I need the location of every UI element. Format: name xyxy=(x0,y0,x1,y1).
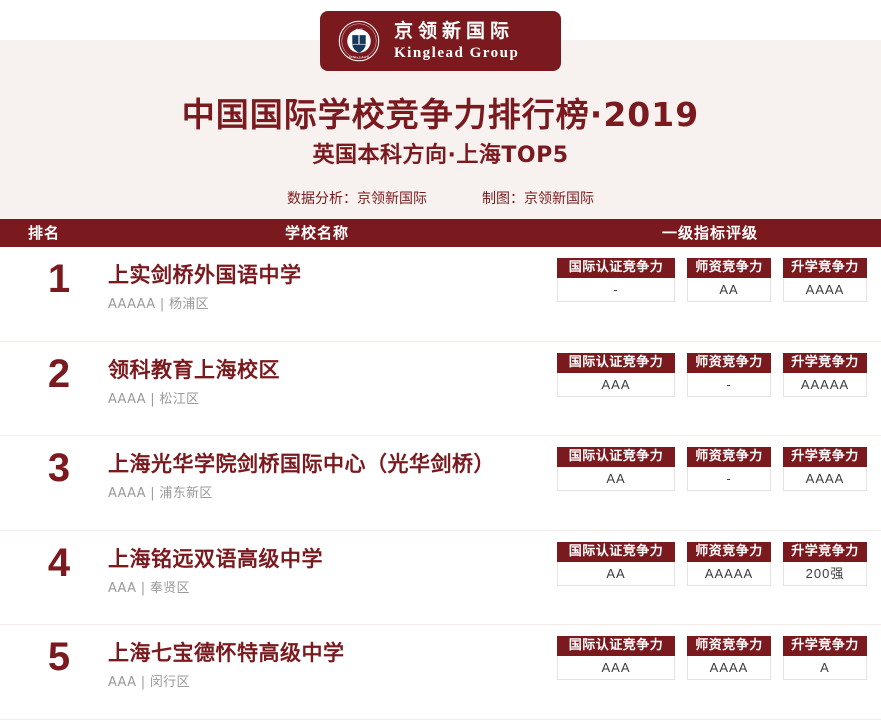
svg-text:KING LEAD: KING LEAD xyxy=(349,55,370,59)
credit-line: 数据分析：京领新国际 制图：京领新国际 xyxy=(0,188,881,208)
rating-badge-group: 国际认证竞争力 AAA 师资竞争力 AAAA 升学竞争力 A xyxy=(557,636,867,680)
page-subtitle: 英国本科方向·上海TOP5 xyxy=(0,137,881,169)
rating-badge-faculty: 师资竞争力 - xyxy=(687,447,771,491)
table-row[interactable]: 3 上海光华学院剑桥国际中心（光华剑桥） AAAA | 浦东新区 国际认证竞争力… xyxy=(0,436,881,531)
brand-name-cn: 京领新国际 xyxy=(394,22,519,41)
row-school-block: 上海光华学院剑桥国际中心（光华剑桥） AAAA | 浦东新区 xyxy=(108,451,495,501)
rating-label-admission: 升学竞争力 xyxy=(783,258,867,278)
rating-badge-certification: 国际认证竞争力 - xyxy=(557,258,675,302)
brand-name-en: Kinglead Group xyxy=(394,46,519,61)
rating-badge-certification: 国际认证竞争力 AAA xyxy=(557,353,675,397)
rating-value-admission: AAAA xyxy=(783,467,867,491)
rating-label-admission: 升学竞争力 xyxy=(783,636,867,656)
rating-label-certification: 国际认证竞争力 xyxy=(557,258,675,278)
rating-badge-admission: 升学竞争力 AAAA xyxy=(783,447,867,491)
banner-area: 京领 KING LEAD 京领新国际 Kinglead Group 中国国际学校… xyxy=(0,0,881,219)
school-name: 上海七宝德怀特高级中学 xyxy=(108,640,345,666)
rating-badge-group: 国际认证竞争力 AA 师资竞争力 - 升学竞争力 AAAA xyxy=(557,447,867,491)
rating-label-admission: 升学竞争力 xyxy=(783,542,867,562)
rating-badge-faculty: 师资竞争力 AAAA xyxy=(687,636,771,680)
rating-value-faculty: AAAAA xyxy=(687,562,771,586)
credit-chart: 制图：京领新国际 xyxy=(482,191,594,207)
column-header-rating: 一级指标评级 xyxy=(662,219,758,247)
rating-value-certification: AAA xyxy=(557,656,675,680)
table-row[interactable]: 5 上海七宝德怀特高级中学 AAA | 闵行区 国际认证竞争力 AAA 师资竞争… xyxy=(0,625,881,720)
school-name: 领科教育上海校区 xyxy=(108,357,280,383)
school-meta: AAA | 奉贤区 xyxy=(108,577,323,596)
page-title: 中国国际学校竞争力排行榜·2019 xyxy=(0,88,881,136)
rating-label-faculty: 师资竞争力 xyxy=(687,636,771,656)
rating-label-admission: 升学竞争力 xyxy=(783,447,867,467)
rating-badge-certification: 国际认证竞争力 AA xyxy=(557,447,675,491)
school-meta: AAAA | 松江区 xyxy=(108,388,280,407)
school-meta: AAA | 闵行区 xyxy=(108,671,345,690)
row-school-block: 上海铭远双语高级中学 AAA | 奉贤区 xyxy=(108,546,323,596)
rating-value-admission: A xyxy=(783,656,867,680)
row-school-block: 上海七宝德怀特高级中学 AAA | 闵行区 xyxy=(108,640,345,690)
rating-badge-admission: 升学竞争力 AAAAA xyxy=(783,353,867,397)
row-rank: 3 xyxy=(30,448,88,488)
ranking-list: 1 上实剑桥外国语中学 AAAAA | 杨浦区 国际认证竞争力 - 师资竞争力 … xyxy=(0,247,881,720)
table-header-bar: 排名 学校名称 一级指标评级 xyxy=(0,219,881,247)
rating-value-admission: 200强 xyxy=(783,562,867,586)
rating-label-certification: 国际认证竞争力 xyxy=(557,542,675,562)
school-name: 上海铭远双语高级中学 xyxy=(108,546,323,572)
rating-badge-certification: 国际认证竞争力 AA xyxy=(557,542,675,586)
rating-value-certification: - xyxy=(557,278,675,302)
rating-value-admission: AAAAA xyxy=(783,373,867,397)
school-name: 上实剑桥外国语中学 xyxy=(108,262,302,288)
rating-value-faculty: - xyxy=(687,467,771,491)
rating-label-faculty: 师资竞争力 xyxy=(687,258,771,278)
table-row[interactable]: 4 上海铭远双语高级中学 AAA | 奉贤区 国际认证竞争力 AA 师资竞争力 … xyxy=(0,531,881,626)
rating-badge-group: 国际认证竞争力 AAA 师资竞争力 - 升学竞争力 AAAAA xyxy=(557,353,867,397)
rating-badge-admission: 升学竞争力 200强 xyxy=(783,542,867,586)
rating-label-certification: 国际认证竞争力 xyxy=(557,636,675,656)
credit-analysis: 数据分析：京领新国际 xyxy=(287,191,427,207)
column-header-school: 学校名称 xyxy=(285,219,349,247)
rating-badge-faculty: 师资竞争力 AAAAA xyxy=(687,542,771,586)
rating-value-certification: AAA xyxy=(557,373,675,397)
rating-badge-faculty: 师资竞争力 - xyxy=(687,353,771,397)
rating-value-faculty: AAAA xyxy=(687,656,771,680)
rating-label-faculty: 师资竞争力 xyxy=(687,353,771,373)
school-meta: AAAAA | 杨浦区 xyxy=(108,293,302,312)
row-rank: 4 xyxy=(30,543,88,583)
rating-value-faculty: - xyxy=(687,373,771,397)
rating-value-certification: AA xyxy=(557,467,675,491)
rating-badge-group: 国际认证竞争力 AA 师资竞争力 AAAAA 升学竞争力 200强 xyxy=(557,542,867,586)
school-name: 上海光华学院剑桥国际中心（光华剑桥） xyxy=(108,451,495,477)
row-rank: 5 xyxy=(30,637,88,677)
rating-label-faculty: 师资竞争力 xyxy=(687,447,771,467)
rating-badge-admission: 升学竞争力 A xyxy=(783,636,867,680)
rating-label-admission: 升学竞争力 xyxy=(783,353,867,373)
table-row[interactable]: 1 上实剑桥外国语中学 AAAAA | 杨浦区 国际认证竞争力 - 师资竞争力 … xyxy=(0,247,881,342)
svg-text:京领: 京领 xyxy=(355,28,363,33)
rating-value-faculty: AA xyxy=(687,278,771,302)
rating-value-certification: AA xyxy=(557,562,675,586)
kinglead-shield-logo-icon: 京领 KING LEAD xyxy=(338,20,380,62)
row-rank: 2 xyxy=(30,354,88,394)
rating-badge-faculty: 师资竞争力 AA xyxy=(687,258,771,302)
brand-logo-plate: 京领 KING LEAD 京领新国际 Kinglead Group xyxy=(320,11,561,71)
row-school-block: 领科教育上海校区 AAAA | 松江区 xyxy=(108,357,280,407)
column-header-rank: 排名 xyxy=(28,219,60,247)
brand-logo-text: 京领新国际 Kinglead Group xyxy=(394,22,519,61)
school-meta: AAAA | 浦东新区 xyxy=(108,482,495,501)
rating-label-faculty: 师资竞争力 xyxy=(687,542,771,562)
table-row[interactable]: 2 领科教育上海校区 AAAA | 松江区 国际认证竞争力 AAA 师资竞争力 … xyxy=(0,342,881,437)
row-school-block: 上实剑桥外国语中学 AAAAA | 杨浦区 xyxy=(108,262,302,312)
rating-badge-certification: 国际认证竞争力 AAA xyxy=(557,636,675,680)
rating-badge-admission: 升学竞争力 AAAA xyxy=(783,258,867,302)
rating-badge-group: 国际认证竞争力 - 师资竞争力 AA 升学竞争力 AAAA xyxy=(557,258,867,302)
rating-label-certification: 国际认证竞争力 xyxy=(557,447,675,467)
rating-label-certification: 国际认证竞争力 xyxy=(557,353,675,373)
row-rank: 1 xyxy=(30,259,88,299)
rating-value-admission: AAAA xyxy=(783,278,867,302)
